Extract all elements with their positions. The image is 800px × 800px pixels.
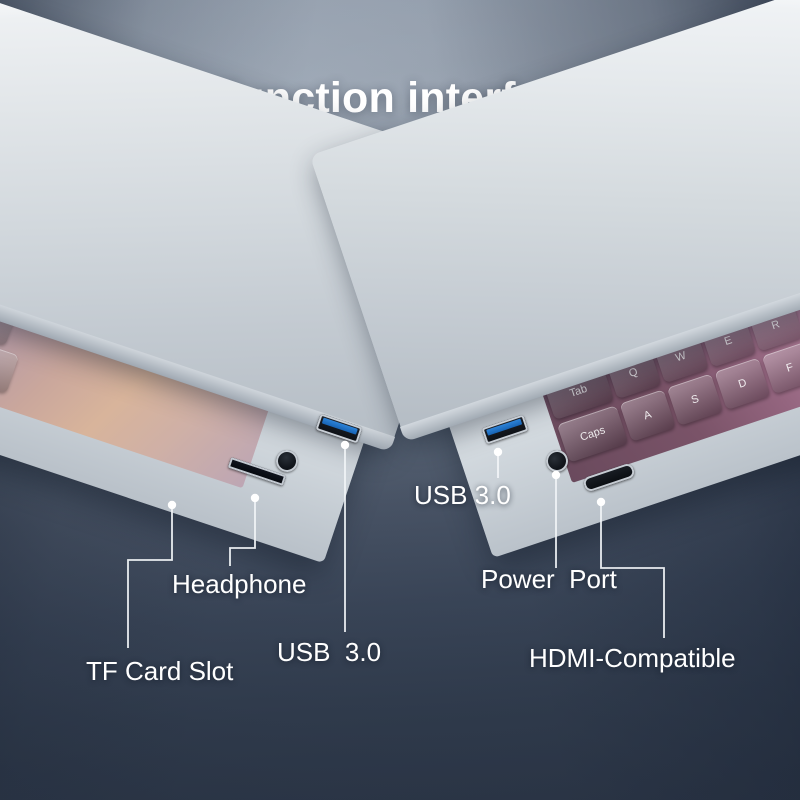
key: A	[620, 389, 676, 442]
callout-label-usb-right: USB 3.0	[414, 480, 511, 511]
callout-label-power-port: Power Port	[481, 564, 617, 595]
key: S	[667, 373, 723, 426]
callout-label-headphone: Headphone	[172, 569, 306, 600]
product-feature-image: Function interface Home 7 8 9 - End 4 5 …	[0, 0, 800, 800]
callout-label-tf-card-slot: TF Card Slot	[86, 656, 233, 687]
callout-label-usb-left: USB 3.0	[277, 637, 381, 668]
callout-label-hdmi: HDMI-Compatible	[529, 643, 736, 674]
key: D	[714, 358, 770, 411]
